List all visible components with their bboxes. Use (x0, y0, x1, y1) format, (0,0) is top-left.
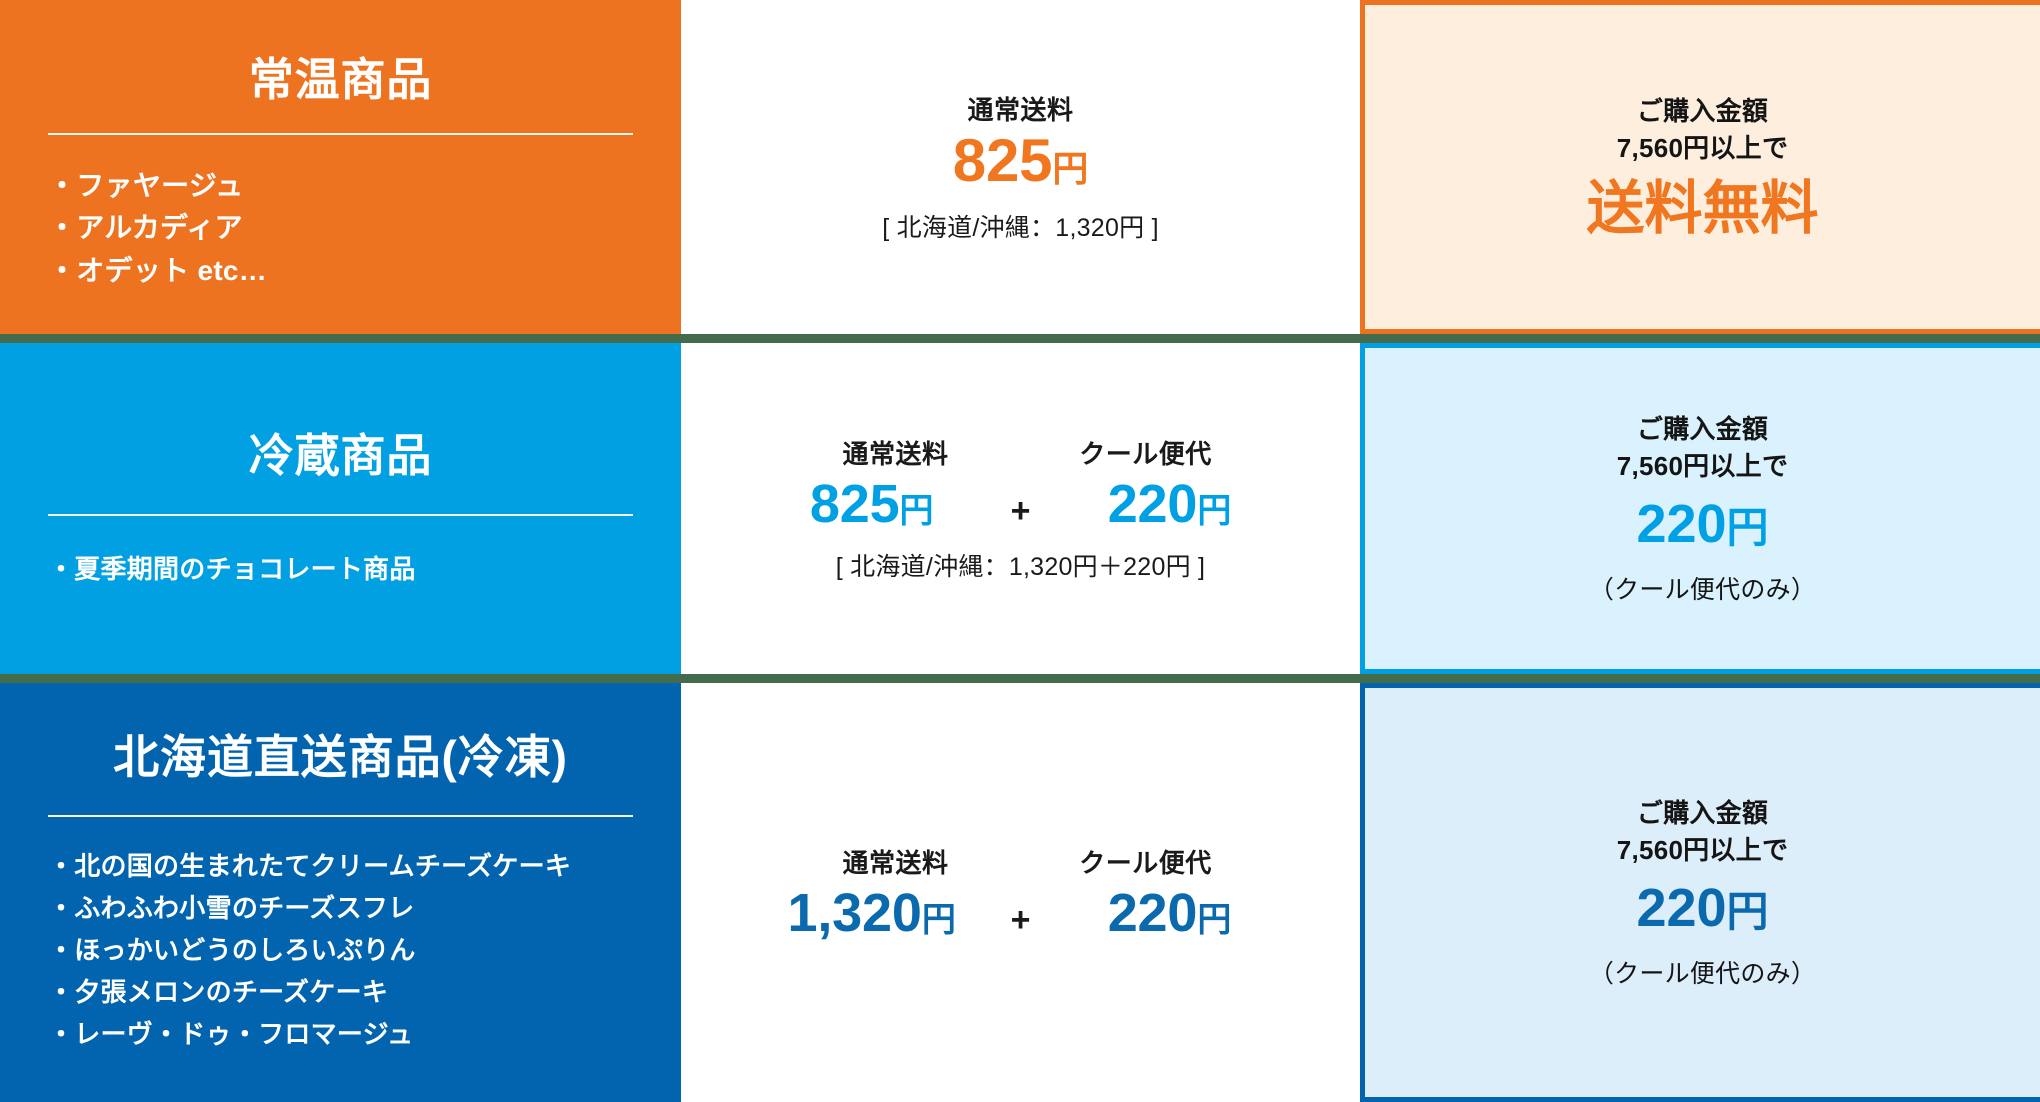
fee-label-group: 通常送料 クール便代 (771, 434, 1271, 471)
fee-label-group: 通常送料 クール便代 (771, 843, 1271, 880)
fee-amount-group: 825円 + 220円 (747, 475, 1295, 533)
free-shipping-line-2: 7,560円以上で (1617, 130, 1788, 167)
fee-label-cool-delivery: クール便代 (1021, 434, 1271, 471)
free-shipping-subnote: （クール便代のみ） (1589, 570, 1816, 606)
category-title: 北海道直送商品(冷凍) (48, 730, 633, 784)
free-shipping-inner: ご購入金額 7,560円以上で 220円 （クール便代のみ） (1360, 683, 2040, 1102)
plus-sign: + (1011, 901, 1031, 940)
free-shipping-line-1: ご購入金額 (1637, 411, 1768, 448)
fee-amount-standard: 825円 (953, 129, 1088, 194)
category-panel-refrigerated: 冷蔵商品 夏季期間のチョコレート商品 (0, 343, 681, 675)
category-divider-rule (48, 514, 633, 516)
free-shipping-amount-currency: 円 (1727, 888, 1769, 935)
fee-amount-number: 1,320 (787, 883, 921, 943)
fee-amount-currency: 円 (1052, 148, 1088, 189)
free-shipping-line-2: 7,560円以上で (1617, 448, 1788, 485)
fee-label-cool-delivery: クール便代 (1021, 843, 1271, 880)
list-item: 夏季期間のチョコレート商品 (48, 550, 633, 588)
fee-amount-number: 825 (953, 127, 1053, 194)
table-row-frozen: 北海道直送商品(冷凍) 北の国の生まれたてクリームチーズケーキ ふわふわ小雪のチ… (0, 683, 2040, 1102)
category-product-list: 夏季期間のチョコレート商品 (48, 550, 633, 588)
fee-amount-cool: 220円 (1044, 475, 1294, 533)
free-shipping-panel-ambient: ご購入金額 7,560円以上で 送料無料 (1360, 0, 2040, 334)
free-shipping-line-2: 7,560円以上で (1617, 832, 1788, 869)
fee-amount-currency: 円 (1197, 901, 1231, 939)
category-product-list: 北の国の生まれたてクリームチーズケーキ ふわふわ小雪のチーズスフレ ほっかいどう… (48, 845, 633, 1056)
table-row-ambient: 常温商品 ファヤージュ アルカディア オデット etc… 通常送料 825円 [… (0, 0, 2040, 334)
category-panel-frozen: 北海道直送商品(冷凍) 北の国の生まれたてクリームチーズケーキ ふわふわ小雪のチ… (0, 683, 681, 1102)
shipping-fee-table: 常温商品 ファヤージュ アルカディア オデット etc… 通常送料 825円 [… (0, 0, 2040, 1102)
row-divider-2 (0, 674, 2040, 683)
fee-label-standard-shipping: 通常送料 (771, 843, 1021, 880)
fee-amount-currency: 円 (899, 492, 933, 530)
free-shipping-highlight: 220円 (1636, 879, 1768, 938)
fee-panel-ambient: 通常送料 825円 [ 北海道/沖縄：1,320円 ] (681, 0, 1360, 334)
category-product-list: ファヤージュ アルカディア オデット etc… (48, 165, 633, 293)
category-title: 冷蔵商品 (48, 429, 633, 482)
fee-panel-refrigerated: 通常送料 クール便代 825円 + 220円 [ 北海道/沖縄：1,320円＋2… (681, 343, 1360, 675)
category-divider-rule (48, 133, 633, 135)
fee-panel-frozen: 通常送料 クール便代 1,320円 + 220円 (681, 683, 1360, 1102)
fee-regional-note: [ 北海道/沖縄：1,320円＋220円 ] (836, 547, 1206, 583)
free-shipping-highlight: 送料無料 (1586, 177, 1818, 241)
category-title: 常温商品 (48, 53, 633, 106)
category-divider-rule (48, 815, 633, 817)
free-shipping-inner: ご購入金額 7,560円以上で 220円 （クール便代のみ） (1360, 343, 2040, 675)
list-item: オデット etc… (48, 250, 633, 293)
fee-amount-currency: 円 (922, 901, 956, 939)
fee-label-group: 通常送料 (967, 90, 1073, 127)
fee-regional-note: [ 北海道/沖縄：1,320円 ] (882, 208, 1159, 244)
fee-amount-group: 1,320円 + 220円 (747, 884, 1295, 942)
free-shipping-inner: ご購入金額 7,560円以上で 送料無料 (1360, 0, 2040, 334)
free-shipping-line-1: ご購入金額 (1637, 93, 1768, 130)
free-shipping-amount-number: 220 (1636, 494, 1726, 554)
free-shipping-line-1: ご購入金額 (1637, 795, 1768, 832)
fee-amount-number: 220 (1108, 474, 1198, 534)
list-item: 北の国の生まれたてクリームチーズケーキ (48, 845, 633, 887)
fee-amount-number: 825 (810, 474, 900, 534)
fee-label-standard-shipping: 通常送料 (771, 434, 1021, 471)
free-shipping-subnote: （クール便代のみ） (1589, 954, 1816, 990)
free-shipping-panel-refrigerated: ご購入金額 7,560円以上で 220円 （クール便代のみ） (1360, 343, 2040, 675)
fee-amount-number: 220 (1108, 883, 1198, 943)
free-shipping-panel-frozen: ご購入金額 7,560円以上で 220円 （クール便代のみ） (1360, 683, 2040, 1102)
fee-amount-standard: 825円 (747, 475, 997, 533)
table-row-refrigerated: 冷蔵商品 夏季期間のチョコレート商品 通常送料 クール便代 825円 + 220… (0, 343, 2040, 675)
row-divider-1 (0, 334, 2040, 343)
list-item: アルカディア (48, 207, 633, 250)
free-shipping-amount-currency: 円 (1727, 504, 1769, 551)
fee-label-standard-shipping: 通常送料 (967, 90, 1073, 127)
list-item: ふわふわ小雪のチーズスフレ (48, 887, 633, 929)
free-shipping-highlight: 220円 (1636, 495, 1768, 554)
fee-amount-cool: 220円 (1044, 884, 1294, 942)
list-item: レーヴ・ドゥ・フロマージュ (48, 1013, 633, 1055)
list-item: ファヤージュ (48, 165, 633, 208)
free-shipping-amount-number: 220 (1636, 878, 1726, 938)
fee-amount-currency: 円 (1197, 492, 1231, 530)
fee-amount-standard: 1,320円 (747, 884, 997, 942)
plus-sign: + (1011, 492, 1031, 531)
fee-amount-group: 825円 (953, 129, 1088, 194)
list-item: 夕張メロンのチーズケーキ (48, 971, 633, 1013)
category-panel-ambient: 常温商品 ファヤージュ アルカディア オデット etc… (0, 0, 681, 334)
list-item: ほっかいどうのしろいぷりん (48, 929, 633, 971)
